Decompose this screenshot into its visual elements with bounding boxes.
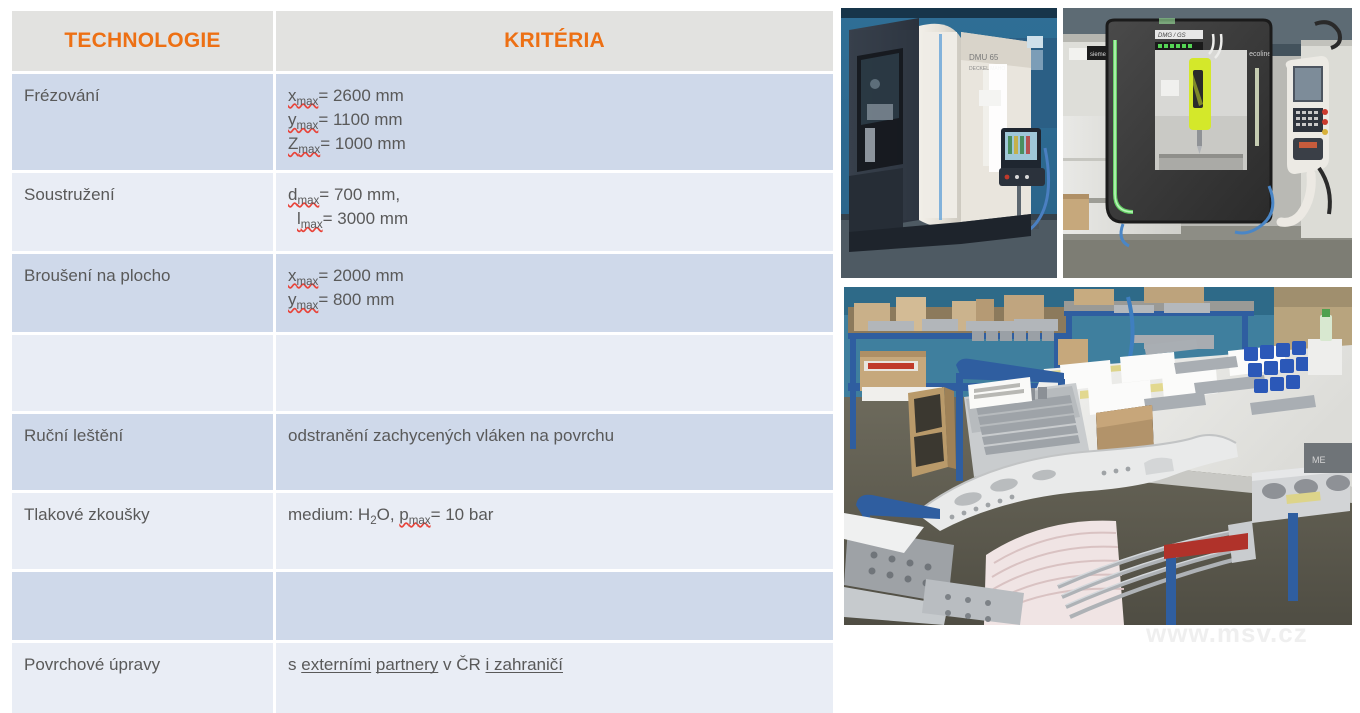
technology-criteria-table: TECHNOLOGIE KRITÉRIA Frézování xmax= 260… [12,11,833,713]
table-header: TECHNOLOGIE KRITÉRIA [12,11,833,74]
symbol-p-max: pmax [399,505,430,524]
cell-kriteria: odstranění zachycených vláken na povrchu [276,414,833,493]
symbol-x-max: xmax [288,266,318,285]
surface-prefix: s [288,655,301,674]
criteria-line: lmax= 3000 mm [288,207,833,231]
criteria-line: ymax= 1100 mm [288,108,833,132]
cell-technologie: Tlakové zkoušky [12,493,276,572]
svg-text:ME: ME [1312,455,1326,465]
table-row-empty [12,572,833,643]
symbol-y-max: ymax [288,110,318,129]
criteria-line: medium: H2O, pmax= 10 bar [288,503,833,527]
criteria-line: Zmax= 1000 mm [288,132,833,156]
photo-gallery: DMU 65 DECKEL MAHO [841,8,1352,628]
symbol-z-max: Zmax [288,134,320,153]
symbol-x-max: xmax [288,86,318,105]
surface-word-partnery: partnery [376,655,438,674]
table-row: Povrchové úpravy s externími partnery v … [12,643,833,713]
table-row: Frézování xmax= 2600 mm ymax= 1100 mm Zm… [12,74,833,173]
criteria-line: xmax= 2000 mm [288,264,833,288]
technology-criteria-table-panel: TECHNOLOGIE KRITÉRIA Frézování xmax= 260… [12,11,833,612]
surface-mid: v ČR [438,655,485,674]
cell-kriteria: medium: H2O, pmax= 10 bar [276,493,833,572]
cell-technologie: Soustružení [12,173,276,254]
column-header-technologie: TECHNOLOGIE [12,11,276,74]
watermark-text: www.msv.cz [1146,618,1308,649]
criteria-line: dmax= 700 mm, [288,183,833,207]
criteria-mid: O, [377,505,400,524]
photo-cnc-vertical-machine: siemens DMG / GS DMC 635 V ecoline [1063,8,1352,278]
criteria-value: = 800 mm [318,290,394,309]
surface-word-zahranici: i zahraničí [486,655,563,674]
criteria-value: = 2000 mm [318,266,404,285]
cell-technologie [12,572,276,643]
cnc-5axis-illustration: DMU 65 DECKEL MAHO [841,8,1057,278]
cell-technologie: Broušení na plocho [12,254,276,335]
cell-kriteria: xmax= 2600 mm ymax= 1100 mm Zmax= 1000 m… [276,74,833,173]
cell-kriteria: s externími partnery v ČR i zahraničí [276,643,833,713]
surface-word-externimi: externími [301,655,371,674]
criteria-value: = 700 mm, [319,185,400,204]
criteria-value: = 10 bar [431,505,494,524]
criteria-value: = 1000 mm [320,134,406,153]
cell-technologie [12,335,276,414]
cell-technologie: Ruční leštění [12,414,276,493]
criteria-line: ymax= 800 mm [288,288,833,312]
subscript-2: 2 [370,515,376,527]
symbol-y-max: ymax [288,290,318,309]
criteria-value: = 1100 mm [318,110,402,129]
table-row: Tlakové zkoušky medium: H2O, pmax= 10 ba… [12,493,833,572]
table-row: Broušení na plocho xmax= 2000 mm ymax= 8… [12,254,833,335]
photo-cnc-5axis-machine: DMU 65 DECKEL MAHO [841,8,1057,278]
cnc-vertical-illustration: siemens DMG / GS DMC 635 V ecoline [1063,8,1352,278]
cell-kriteria [276,572,833,643]
column-header-kriteria: KRITÉRIA [276,11,833,74]
cell-technologie: Povrchové úpravy [12,643,276,713]
table-row: Ruční leštění odstranění zachycených vlá… [12,414,833,493]
svg-text:DMG / GS: DMG / GS [1158,33,1186,39]
table-row: Soustružení dmax= 700 mm, lmax= 3000 mm [12,173,833,254]
criteria-line: xmax= 2600 mm [288,84,833,108]
table-body: Frézování xmax= 2600 mm ymax= 1100 mm Zm… [12,74,833,713]
criteria-value: = 2600 mm [318,86,404,105]
symbol-d-max: dmax [288,185,319,204]
cell-kriteria: xmax= 2000 mm ymax= 800 mm [276,254,833,335]
workshop-illustration: ME [844,287,1352,625]
cell-kriteria [276,335,833,414]
table-row-empty [12,335,833,414]
svg-text:DMU 65: DMU 65 [969,53,999,62]
criteria-line: s externími partnery v ČR i zahraničí [288,653,833,677]
criteria-prefix: medium: H [288,505,370,524]
photo-workshop-parts: ME [844,287,1352,625]
cell-kriteria: dmax= 700 mm, lmax= 3000 mm [276,173,833,254]
cell-technologie: Frézování [12,74,276,173]
criteria-value: = 3000 mm [323,209,409,228]
symbol-l-max: lmax [297,209,323,228]
